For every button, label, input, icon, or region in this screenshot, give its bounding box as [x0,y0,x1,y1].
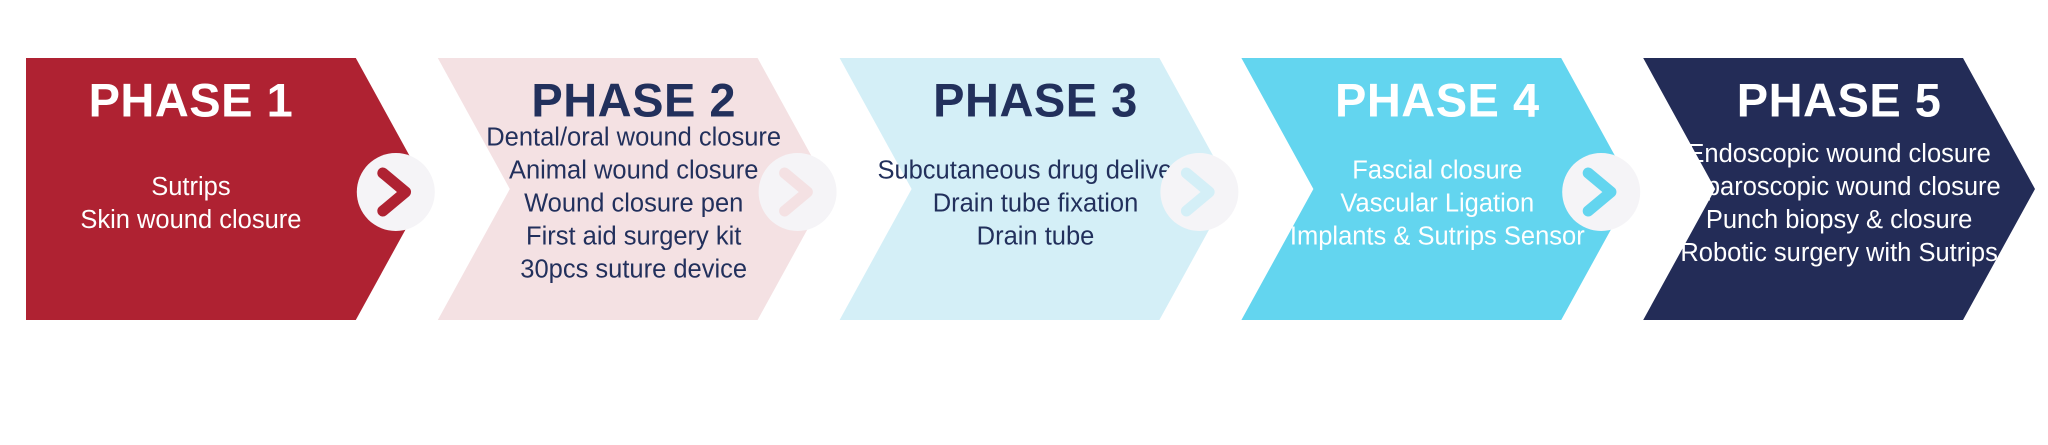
phase-3-item-3: Drain tube [977,223,1095,251]
phase-title-1: PHASE 1 [89,73,294,126]
phase-title-3: PHASE 3 [933,73,1138,126]
phase-5-item-3: Punch biopsy & closure [1706,206,1972,234]
connector-circle-1[interactable] [357,153,435,231]
phase-4-item-2: Vascular Ligation [1340,190,1534,218]
connector-circle-4[interactable] [1562,153,1640,231]
phase-1-item-1: Sutrips [151,173,230,201]
phase-roadmap-diagram: PHASE 1SutripsSkin wound closurePHASE 2D… [0,0,2048,445]
phase-3-item-2: Drain tube fixation [933,190,1139,218]
phase-title-2: PHASE 2 [531,73,736,126]
roadmap-canvas: PHASE 1SutripsSkin wound closurePHASE 2D… [0,0,2048,445]
phase-4-item-3: Implants & Sutrips Sensor [1290,223,1585,251]
phase-5-item-1: Endoscopic wound closure [1687,140,1990,168]
connector-2-3[interactable] [759,153,837,231]
phase-title-5: PHASE 5 [1737,73,1942,126]
phase-3-item-1: Subcutaneous drug delivery [877,157,1193,185]
connector-1-2[interactable] [357,153,435,231]
phase-2-item-1: Dental/oral wound closure [486,124,781,152]
phase-title-4: PHASE 4 [1335,73,1540,126]
connector-4-5[interactable] [1562,153,1640,231]
phase-2-item-5: 30pcs suture device [520,256,747,284]
phase-1-item-2: Skin wound closure [80,206,301,234]
phase-group-5: PHASE 5Endoscopic wound closureLaparosco… [1643,58,2035,320]
phase-2-item-2: Animal wound closure [509,157,758,185]
phase-5-item-2: Laparoscopic wound closure [1677,173,2000,201]
connector-3-4[interactable] [1160,153,1238,231]
connector-circle-2[interactable] [759,153,837,231]
phase-4-item-1: Fascial closure [1352,157,1522,185]
phase-2-item-3: Wound closure pen [524,190,743,218]
phase-2-item-4: First aid surgery kit [526,223,741,251]
phase-5-item-4: Robotic surgery with Sutrips [1680,239,1997,267]
connector-circle-3[interactable] [1160,153,1238,231]
